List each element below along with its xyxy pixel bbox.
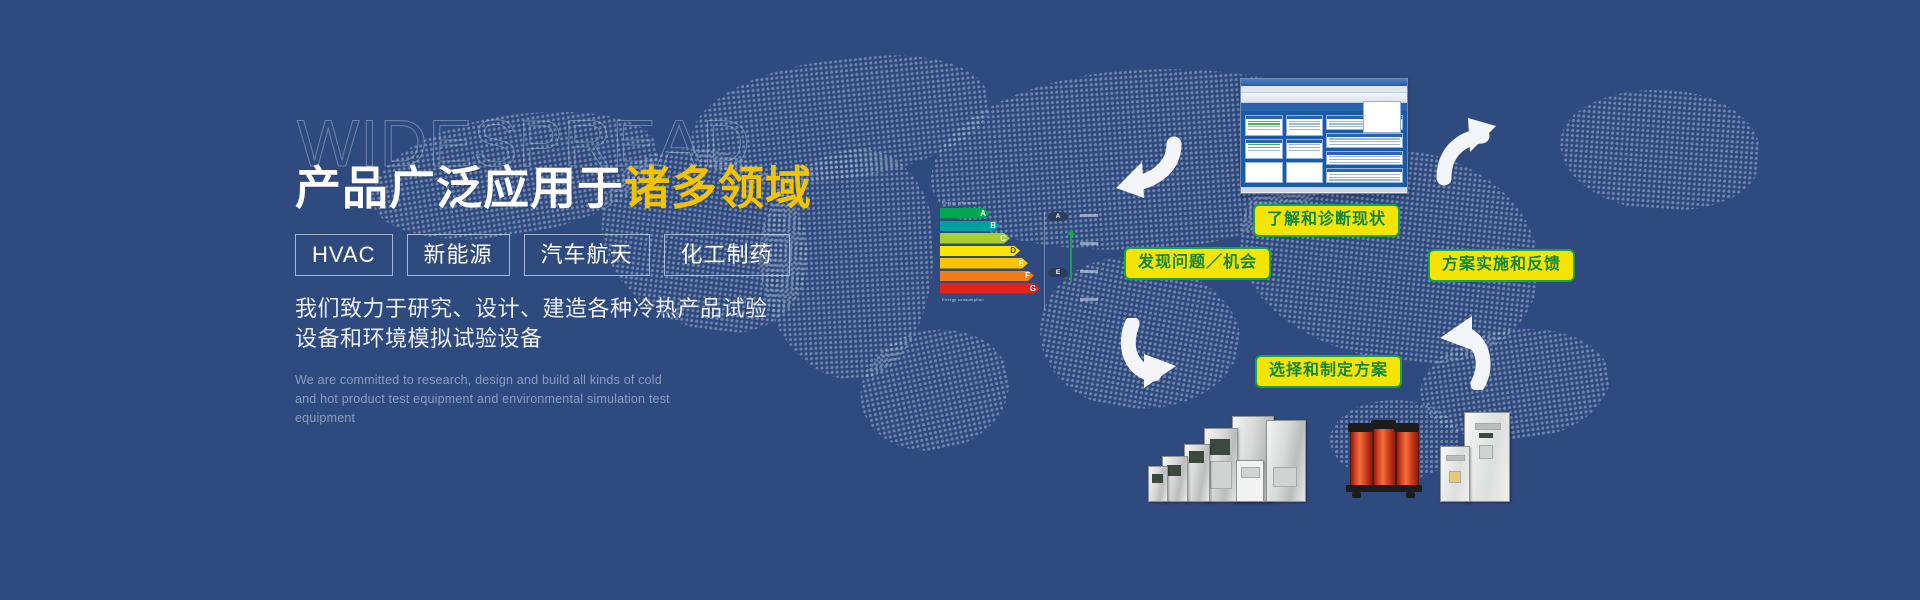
equipment-chambers-photo xyxy=(1440,408,1510,500)
equipment-transformer-photo xyxy=(1342,415,1428,501)
curved-arrow-icon-top-left xyxy=(1108,132,1182,202)
energy-bar-c-grade: C xyxy=(1000,234,1006,243)
energy-bar-a-grade: A xyxy=(980,209,986,218)
energy-efficiency-label: Energy efficiency A B C D E F G A E Ener… xyxy=(940,200,1070,310)
hero-banner: WIDESPREAD 产品广泛应用于诸多领域 HVAC 新能源 汽车航天 化工制… xyxy=(0,0,1920,600)
tag-new-energy[interactable]: 新能源 xyxy=(407,234,510,276)
energy-bar-c: C xyxy=(940,233,1010,244)
cycle-label-feedback[interactable]: 方案实施和反馈 xyxy=(1428,249,1575,282)
headline-highlight: 诸多领域 xyxy=(624,162,812,214)
description-cn: 我们致力于研究、设计、建造各种冷热产品试验 设备和环境模拟试验设备 xyxy=(295,294,815,355)
headline-main: 产品广泛应用于 xyxy=(295,162,624,214)
energy-best-grade-pill: A xyxy=(1048,212,1068,221)
description-cn-line-1: 我们致力于研究、设计、建造各种冷热产品试验 xyxy=(295,294,815,324)
description-en: We are committed to research, design and… xyxy=(295,371,725,429)
energy-top-caption: Energy efficiency xyxy=(942,200,1070,205)
description-en-line-2: and hot product test equipment and envir… xyxy=(295,390,725,429)
tag-chemical-pharma[interactable]: 化工制药 xyxy=(664,234,790,276)
tag-automotive-aerospace[interactable]: 汽车航天 xyxy=(524,234,650,276)
control-software-screenshot xyxy=(1240,78,1408,194)
energy-bar-g: G xyxy=(940,283,1040,294)
energy-bar-d: D xyxy=(940,246,1020,257)
energy-bars: A B C D E F G A E xyxy=(940,208,1040,294)
energy-bar-e: E xyxy=(940,258,1028,269)
energy-current-grade-pill: E xyxy=(1048,268,1068,277)
page-title: 产品广泛应用于诸多领域 xyxy=(295,160,935,218)
energy-bar-b-grade: B xyxy=(990,221,996,230)
tag-list: HVAC 新能源 汽车航天 化工制药 xyxy=(295,234,935,276)
energy-bar-b: B xyxy=(940,221,1000,232)
energy-bar-d-grade: D xyxy=(1010,246,1016,255)
energy-bar-f: F xyxy=(940,271,1034,282)
cycle-label-discover[interactable]: 发现问题／机会 xyxy=(1124,247,1271,280)
cycle-label-diagnose[interactable]: 了解和诊断现状 xyxy=(1253,204,1400,237)
curved-arrow-icon-top-right xyxy=(1430,112,1504,186)
cycle-label-plan[interactable]: 选择和制定方案 xyxy=(1255,355,1402,388)
curved-arrow-icon-bottom-right xyxy=(1428,312,1504,390)
energy-bar-g-grade: G xyxy=(1030,284,1036,293)
energy-improvement-arrow-icon xyxy=(1070,234,1072,282)
description-en-line-1: We are committed to research, design and… xyxy=(295,371,725,390)
energy-bottom-caption: Energy consumption xyxy=(942,297,1070,302)
hero-text-block: WIDESPREAD 产品广泛应用于诸多领域 HVAC 新能源 汽车航天 化工制… xyxy=(295,110,935,429)
energy-bar-f-grade: F xyxy=(1025,271,1030,280)
energy-bar-a: A xyxy=(940,208,990,219)
equipment-cabinets-photo xyxy=(1148,410,1308,500)
description-cn-line-2: 设备和环境模拟试验设备 xyxy=(295,324,815,354)
tag-hvac[interactable]: HVAC xyxy=(295,234,393,276)
curved-arrow-icon-bottom-left xyxy=(1110,318,1188,394)
energy-bar-e-grade: E xyxy=(1019,259,1024,268)
